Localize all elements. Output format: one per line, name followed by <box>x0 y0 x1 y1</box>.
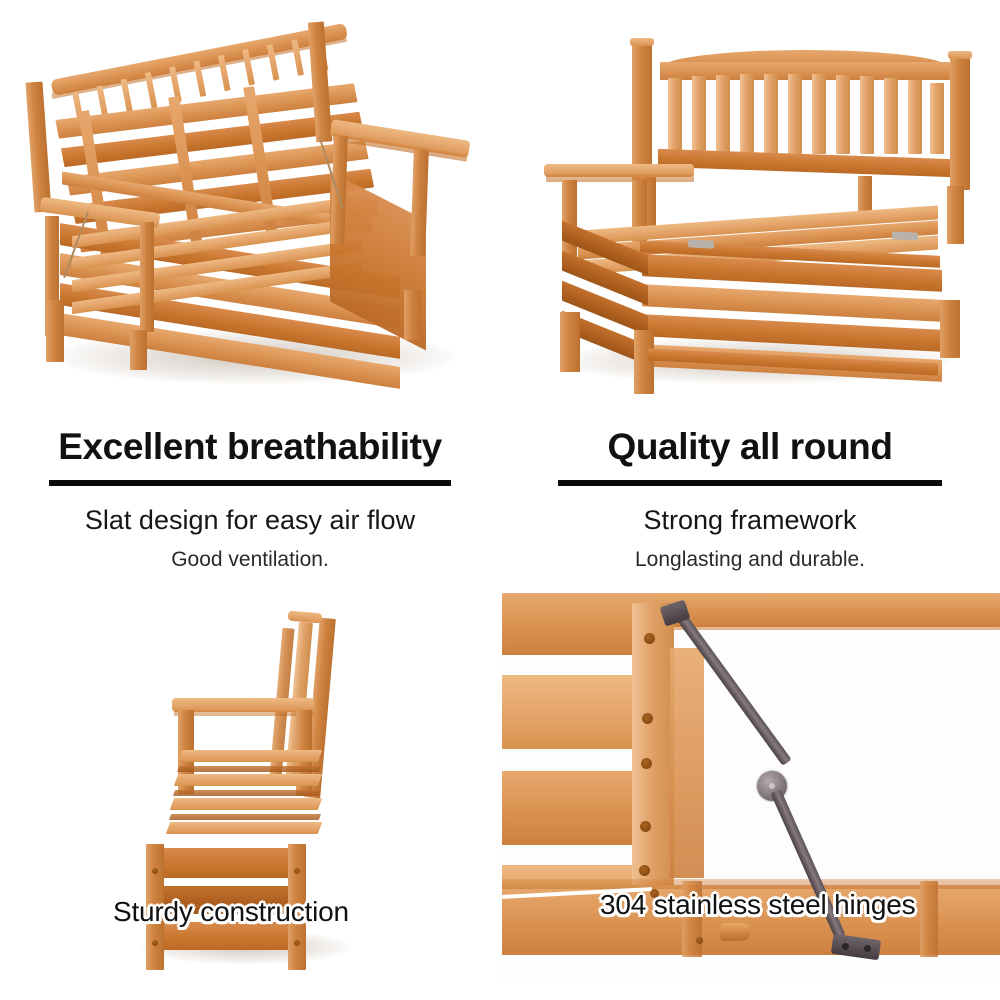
feature-title: Quality all round <box>500 428 1000 467</box>
photo-bench-side-profile: Sturdy construction <box>0 600 500 1000</box>
backrest-post-left <box>632 42 652 182</box>
lower-divider-right <box>920 881 938 957</box>
screw-dot <box>294 868 300 874</box>
title-underline <box>558 480 942 486</box>
screw-hole <box>639 865 650 876</box>
lid-hinge-left <box>688 239 714 248</box>
post-cap-left <box>630 38 654 46</box>
infographic-page: Excellent breathability Slat design for … <box>0 0 1000 1000</box>
mid-stile-right <box>947 186 964 244</box>
screw-dot <box>294 940 300 946</box>
arm-front-support-left <box>140 222 154 332</box>
leg-mid-left <box>634 330 654 394</box>
leg-front-left <box>560 312 580 372</box>
photo-bench-closed-front <box>500 0 1000 415</box>
top-rail <box>652 593 1000 627</box>
photo-hinge-closeup: 304 stainless steel hinges <box>502 593 1000 980</box>
feature-subtitle: Slat design for easy air flow <box>0 505 500 536</box>
leg-right <box>940 300 960 358</box>
hinge-bracket-screw <box>842 943 849 950</box>
corner-post <box>632 603 674 885</box>
photo-bench-open-lid <box>0 0 500 415</box>
dowel-knob <box>720 923 750 941</box>
top-rail-edge <box>652 623 1000 630</box>
backrest-post-right <box>950 55 970 190</box>
seat-slat-group <box>170 750 330 850</box>
caption-stainless-hinges: 304 stainless steel hinges <box>600 889 915 921</box>
inner-stile <box>670 648 704 878</box>
armrest-shadow <box>174 710 314 716</box>
feature-block-quality: Quality all round Strong framework Longl… <box>500 428 1000 572</box>
screw-hole <box>640 821 651 832</box>
hinge-bracket-screw <box>864 945 871 952</box>
screw-hole <box>642 713 653 724</box>
feature-subtitle: Strong framework <box>500 505 1000 536</box>
screw-dot <box>152 940 158 946</box>
feature-detail: Longlasting and durable. <box>500 548 1000 572</box>
caption-sturdy-construction: Sturdy construction <box>113 896 349 928</box>
screw-dot <box>696 937 703 944</box>
lid-hinge-right <box>892 231 918 240</box>
hinge-pivot-center <box>769 783 775 789</box>
leg-front-mid <box>130 330 147 370</box>
screw-dot <box>152 868 158 874</box>
title-underline <box>49 480 451 486</box>
screw-hole <box>644 633 655 644</box>
feature-block-breathability: Excellent breathability Slat design for … <box>0 428 500 572</box>
screw-hole <box>641 758 652 769</box>
feature-title: Excellent breathability <box>0 428 500 467</box>
feature-detail: Good ventilation. <box>0 548 500 572</box>
leg-front-left <box>46 300 64 362</box>
leg-rear-right <box>404 290 421 340</box>
backrest-slat-group <box>662 74 950 156</box>
post-cap-right <box>948 51 972 59</box>
